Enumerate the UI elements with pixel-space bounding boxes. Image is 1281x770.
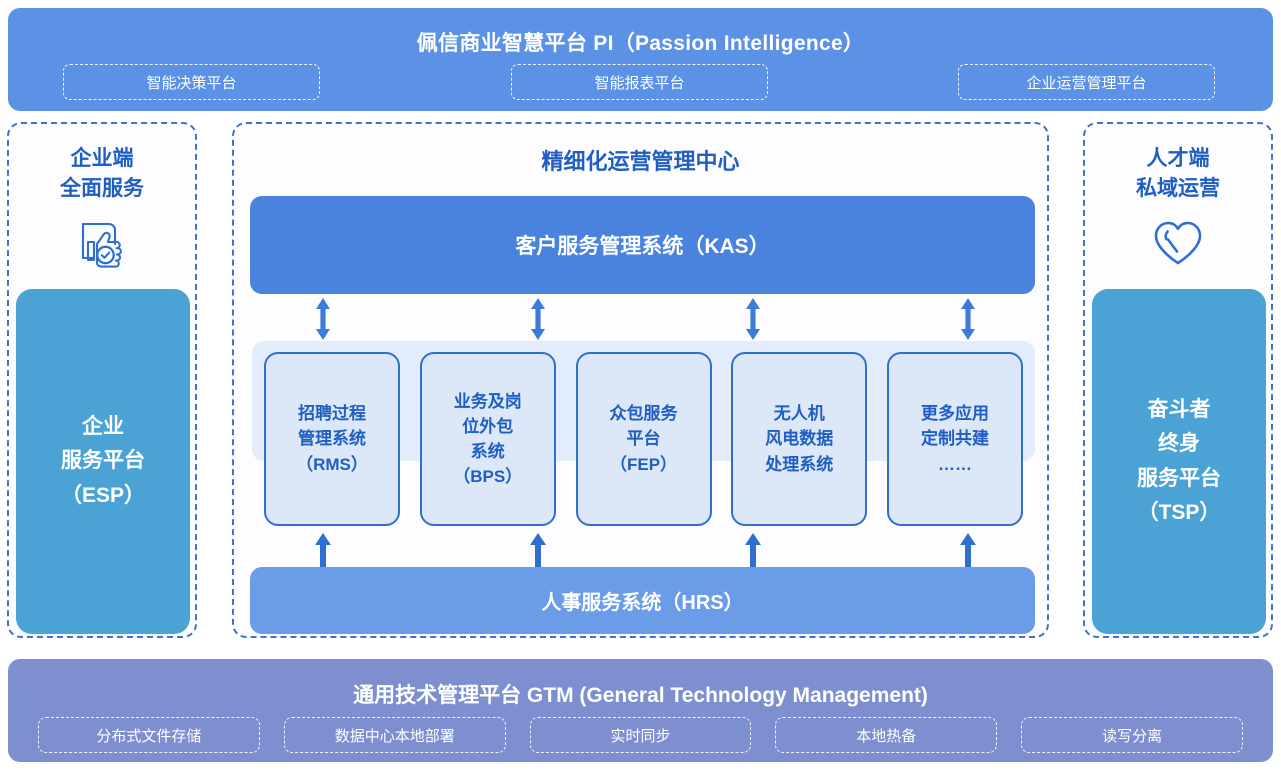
enterprise-panel-title: 企业端 全面服务 [9,144,195,204]
enterprise-panel-title-line1: 企业端 [9,144,195,174]
talent-panel-title: 人才端 私域运营 [1085,144,1271,204]
gtm-pill-group: 分布式文件存储 数据中心本地部署 实时同步 本地热备 读写分离 [38,717,1243,753]
bidirectional-arrow-icon-3 [743,296,763,342]
esp-card: 企业 服务平台 （ESP） [16,289,190,634]
esp-card-text: 企业 服务平台 （ESP） [61,410,145,512]
module-card-more-apps[interactable]: 更多应用 定制共建 …… [887,352,1023,526]
tsp-card-text: 奋斗者 终身 服务平台 （TSP） [1137,393,1221,529]
tsp-card: 奋斗者 终身 服务平台 （TSP） [1092,289,1266,634]
module-fep-text: 众包服务 平台 （FEP） [604,401,684,476]
module-card-rms[interactable]: 招聘过程 管理系统 （RMS） [264,352,400,526]
tsp-line2: 终身 [1137,427,1221,461]
module-rms-line2: 管理系统 [296,426,368,451]
module-bps-line1: 业务及岗 [453,389,522,414]
enterprise-side-panel: 企业端 全面服务 企业 服务平台 （ESP） [7,122,197,638]
tsp-line1: 奋斗者 [1137,393,1221,427]
module-more-line2: 定制共建 [921,426,989,451]
kas-label: 客户服务管理系统（KAS） [515,230,769,260]
module-more-apps-text: 更多应用 定制共建 …… [915,401,995,476]
architecture-diagram: 佩信商业智慧平台 PI（Passion Intelligence） 智能决策平台… [0,0,1281,770]
up-arrow-icon-1 [313,532,333,572]
module-card-bps[interactable]: 业务及岗 位外包 系统 （BPS） [420,352,556,526]
module-fep-line3: （FEP） [610,452,678,477]
operations-center-panel: 精细化运营管理中心 客户服务管理系统（KAS） [232,122,1049,638]
module-bps-line3: 系统 [453,439,522,464]
tsp-line3: 服务平台 [1137,462,1221,496]
module-fep-line1: 众包服务 [610,401,678,426]
kas-module-arrows [250,296,1035,342]
gtm-pill-datacenter-deploy[interactable]: 数据中心本地部署 [284,717,506,753]
bidirectional-arrow-icon-4 [958,296,978,342]
module-fep-line2: 平台 [610,426,678,451]
module-rms-line1: 招聘过程 [296,401,368,426]
module-card-row: 招聘过程 管理系统 （RMS） 业务及岗 位外包 系统 （BPS） 众包服务 平… [252,347,1035,531]
kas-system-bar: 客户服务管理系统（KAS） [250,196,1035,294]
talent-panel-title-line2: 私域运营 [1085,174,1271,204]
up-arrow-icon-4 [958,532,978,572]
esp-line3: （ESP） [61,479,145,513]
pi-platform-pill-group: 智能决策平台 智能报表平台 企业运营管理平台 [8,64,1273,100]
esp-line2: 服务平台 [61,444,145,478]
module-card-drone-wind[interactable]: 无人机 风电数据 处理系统 [731,352,867,526]
tsp-line4: （TSP） [1137,496,1221,530]
module-bps-text: 业务及岗 位外包 系统 （BPS） [447,389,528,490]
gtm-platform-band: 通用技术管理平台 GTM (General Technology Managem… [8,659,1273,762]
module-drone-line1: 无人机 [765,401,833,426]
hrs-module-arrows [250,532,1035,572]
talent-side-panel: 人才端 私域运营 奋斗者 终身 服务平台 （TSP） [1083,122,1273,638]
gtm-pill-local-hot-standby[interactable]: 本地热备 [775,717,997,753]
gtm-pill-read-write-split[interactable]: 读写分离 [1021,717,1243,753]
gtm-pill-distributed-storage[interactable]: 分布式文件存储 [38,717,260,753]
module-rms-line3: （RMS） [296,452,368,477]
bidirectional-arrow-icon-2 [528,296,548,342]
module-bps-line4: （BPS） [453,464,522,489]
module-rms-text: 招聘过程 管理系统 （RMS） [290,401,374,476]
up-arrow-icon-2 [528,532,548,572]
up-arrow-icon-3 [743,532,763,572]
module-drone-wind-text: 无人机 风电数据 处理系统 [759,401,839,476]
operations-center-title: 精细化运营管理中心 [234,144,1047,176]
module-drone-line2: 风电数据 [765,426,833,451]
header-pill-decision[interactable]: 智能决策平台 [63,64,320,100]
thumbs-up-check-icon [9,218,195,270]
header-pill-operations[interactable]: 企业运营管理平台 [958,64,1215,100]
module-more-line3: …… [921,452,989,477]
module-bps-line2: 位外包 [453,414,522,439]
talent-panel-title-line1: 人才端 [1085,144,1271,174]
pi-platform-title: 佩信商业智慧平台 PI（Passion Intelligence） [8,27,1273,57]
module-drone-line3: 处理系统 [765,452,833,477]
hrs-system-bar: 人事服务系统（HRS） [250,567,1035,634]
pi-platform-header-band: 佩信商业智慧平台 PI（Passion Intelligence） 智能决策平台… [8,8,1273,111]
hrs-label: 人事服务系统（HRS） [541,586,743,615]
header-pill-report[interactable]: 智能报表平台 [511,64,768,100]
gtm-pill-realtime-sync[interactable]: 实时同步 [530,717,752,753]
heart-clock-icon [1085,218,1271,268]
gtm-platform-title: 通用技术管理平台 GTM (General Technology Managem… [8,679,1273,709]
enterprise-panel-title-line2: 全面服务 [9,174,195,204]
bidirectional-arrow-icon-1 [313,296,333,342]
module-more-line1: 更多应用 [921,401,989,426]
module-card-fep[interactable]: 众包服务 平台 （FEP） [576,352,712,526]
esp-line1: 企业 [61,410,145,444]
